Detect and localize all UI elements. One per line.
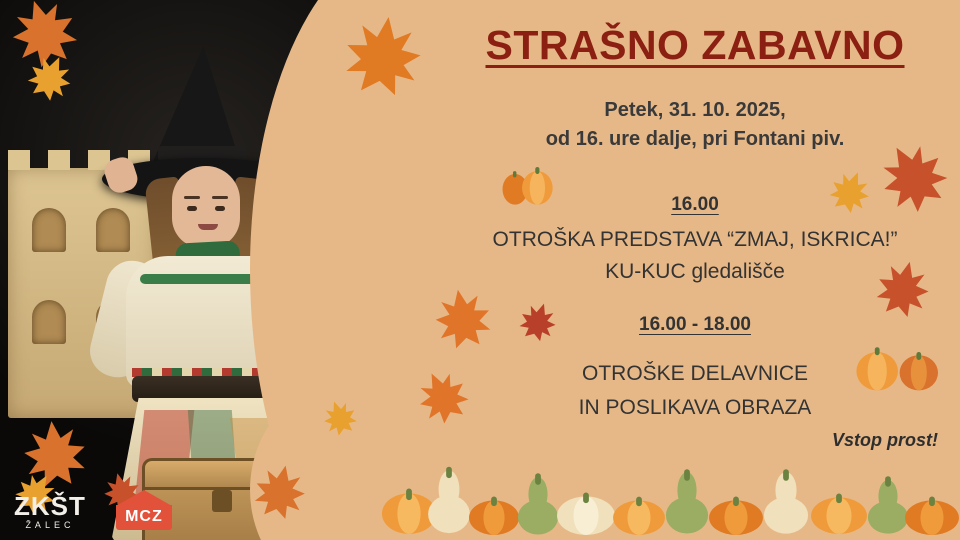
- program-2-time: 16.00 - 18.00: [430, 314, 960, 336]
- program-1-performer: KU-KUC gledališče: [430, 260, 960, 284]
- maple-leaf-icon: [334, 8, 431, 105]
- pumpkin-icon: [762, 465, 810, 540]
- program-2-title: OTROŠKE DELAVNICE: [430, 362, 960, 386]
- program-1-title: OTROŠKA PREDSTAVA “ZMAJ, ISKRICA!”: [430, 228, 960, 252]
- pumpkin-icon: [516, 469, 560, 540]
- event-time-location: od 16. ure dalje, pri Fontani piv.: [430, 125, 960, 154]
- program-2-subtitle: IN POSLIKAVA OBRAZA: [430, 396, 960, 420]
- logo-zkst-sub: ŽALEC: [14, 521, 86, 530]
- pumpkin-icon: [612, 487, 666, 540]
- logo-mcz-name: MCZ: [116, 504, 172, 530]
- scenery-window: [32, 300, 66, 344]
- witch-eye: [187, 206, 197, 211]
- witch-brow: [184, 196, 200, 199]
- pumpkin-icon: [708, 485, 764, 540]
- logo-mcz: MCZ: [108, 490, 182, 530]
- program-1-time: 16.00: [430, 194, 960, 216]
- pumpkin-row: [380, 450, 960, 540]
- poster-root: STRAŠNO ZABAVNO Petek, 31. 10. 2025, od …: [0, 0, 960, 540]
- witch-mouth: [198, 224, 218, 230]
- witch-eye: [215, 206, 225, 211]
- pumpkin-icon: [810, 481, 868, 540]
- event-datetime: Petek, 31. 10. 2025, od 16. ure dalje, p…: [430, 96, 960, 154]
- pumpkin-icon: [904, 485, 960, 540]
- scenery-window: [32, 208, 66, 252]
- logo-zkst: ZKŠT ŽALEC: [14, 493, 86, 530]
- maple-leaf-icon: [244, 456, 315, 527]
- pumpkin-icon: [426, 461, 472, 540]
- prop-chest-lock: [212, 490, 232, 512]
- logo-zkst-name: ZKŠT: [14, 491, 86, 521]
- pumpkin-icon: [468, 485, 520, 540]
- witch-face: [172, 166, 240, 248]
- pumpkin-icon: [556, 479, 616, 540]
- logo-bar: ZKŠT ŽALEC MCZ: [14, 490, 182, 530]
- page-title: STRAŠNO ZABAVNO: [430, 22, 960, 69]
- free-entry-note: Vstop prost!: [832, 430, 938, 451]
- witch-brow: [212, 196, 228, 199]
- pumpkin-icon: [664, 463, 710, 540]
- event-date: Petek, 31. 10. 2025,: [430, 96, 960, 125]
